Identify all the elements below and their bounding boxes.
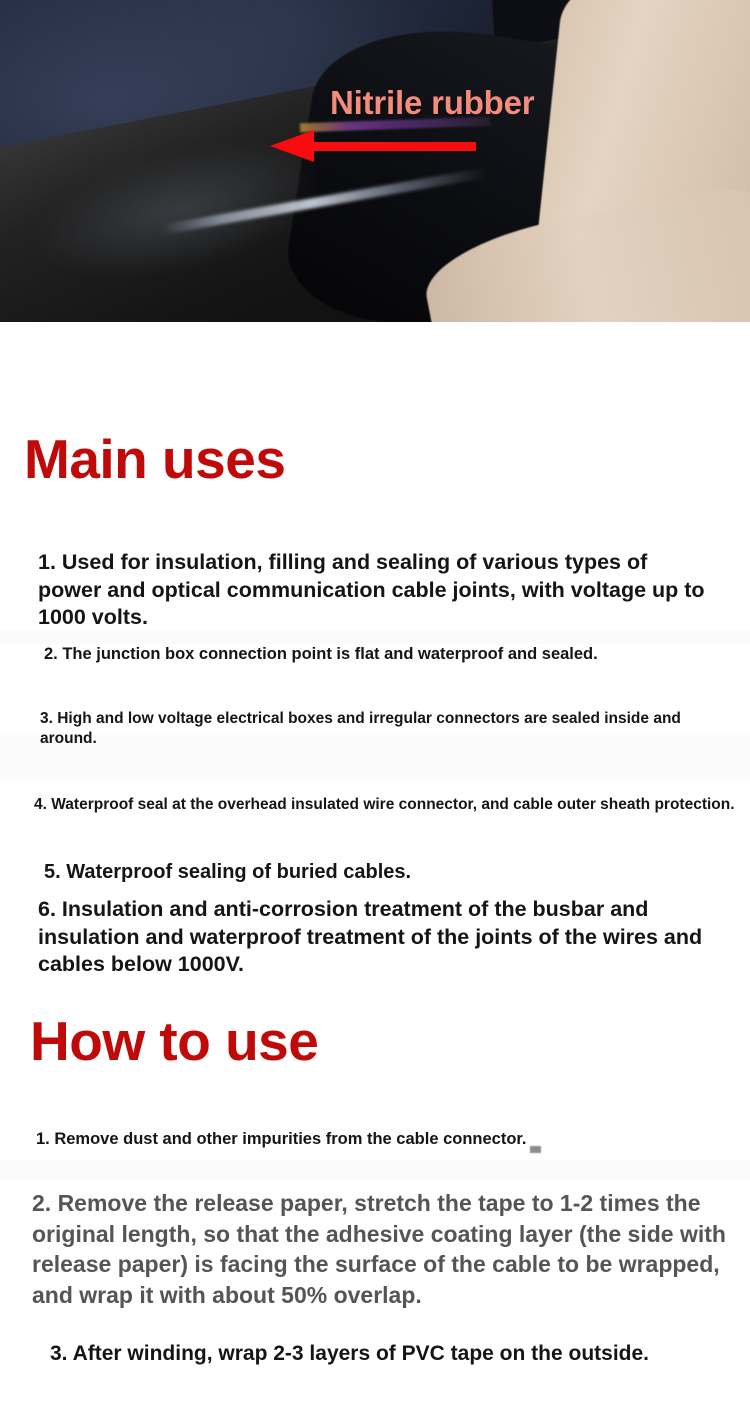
scan-artifact-band: [0, 1160, 750, 1180]
how-to-use-step-3: 3. After winding, wrap 2-3 layers of PVC…: [50, 1341, 730, 1368]
photo-annotation-label: Nitrile rubber: [330, 84, 534, 122]
product-detail-page: Nitrile rubber Main uses 1. Used for ins…: [0, 0, 750, 1404]
how-to-use-step-2: 2. Remove the release paper, stretch the…: [32, 1188, 732, 1310]
scan-smudge-artifact: [530, 1146, 541, 1153]
main-uses-item-4: 4. Waterproof seal at the overhead insul…: [34, 795, 746, 815]
scan-artifact-band: [0, 630, 750, 644]
section-heading-main-uses: Main uses: [24, 432, 285, 487]
product-photo-banner: Nitrile rubber: [0, 0, 750, 322]
main-uses-item-6: 6. Insulation and anti-corrosion treatme…: [38, 896, 716, 979]
main-uses-item-3: 3. High and low voltage electrical boxes…: [40, 709, 740, 749]
annotation-arrow-icon: [270, 128, 480, 168]
main-uses-item-5: 5. Waterproof sealing of buried cables.: [44, 860, 724, 886]
how-to-use-step-1: 1. Remove dust and other impurities from…: [36, 1129, 726, 1150]
section-heading-how-to-use: How to use: [30, 1014, 318, 1069]
arrow-shaft-icon: [308, 142, 476, 151]
main-uses-item-2: 2. The junction box connection point is …: [44, 644, 734, 665]
main-uses-item-1: 1. Used for insulation, filling and seal…: [38, 549, 710, 632]
